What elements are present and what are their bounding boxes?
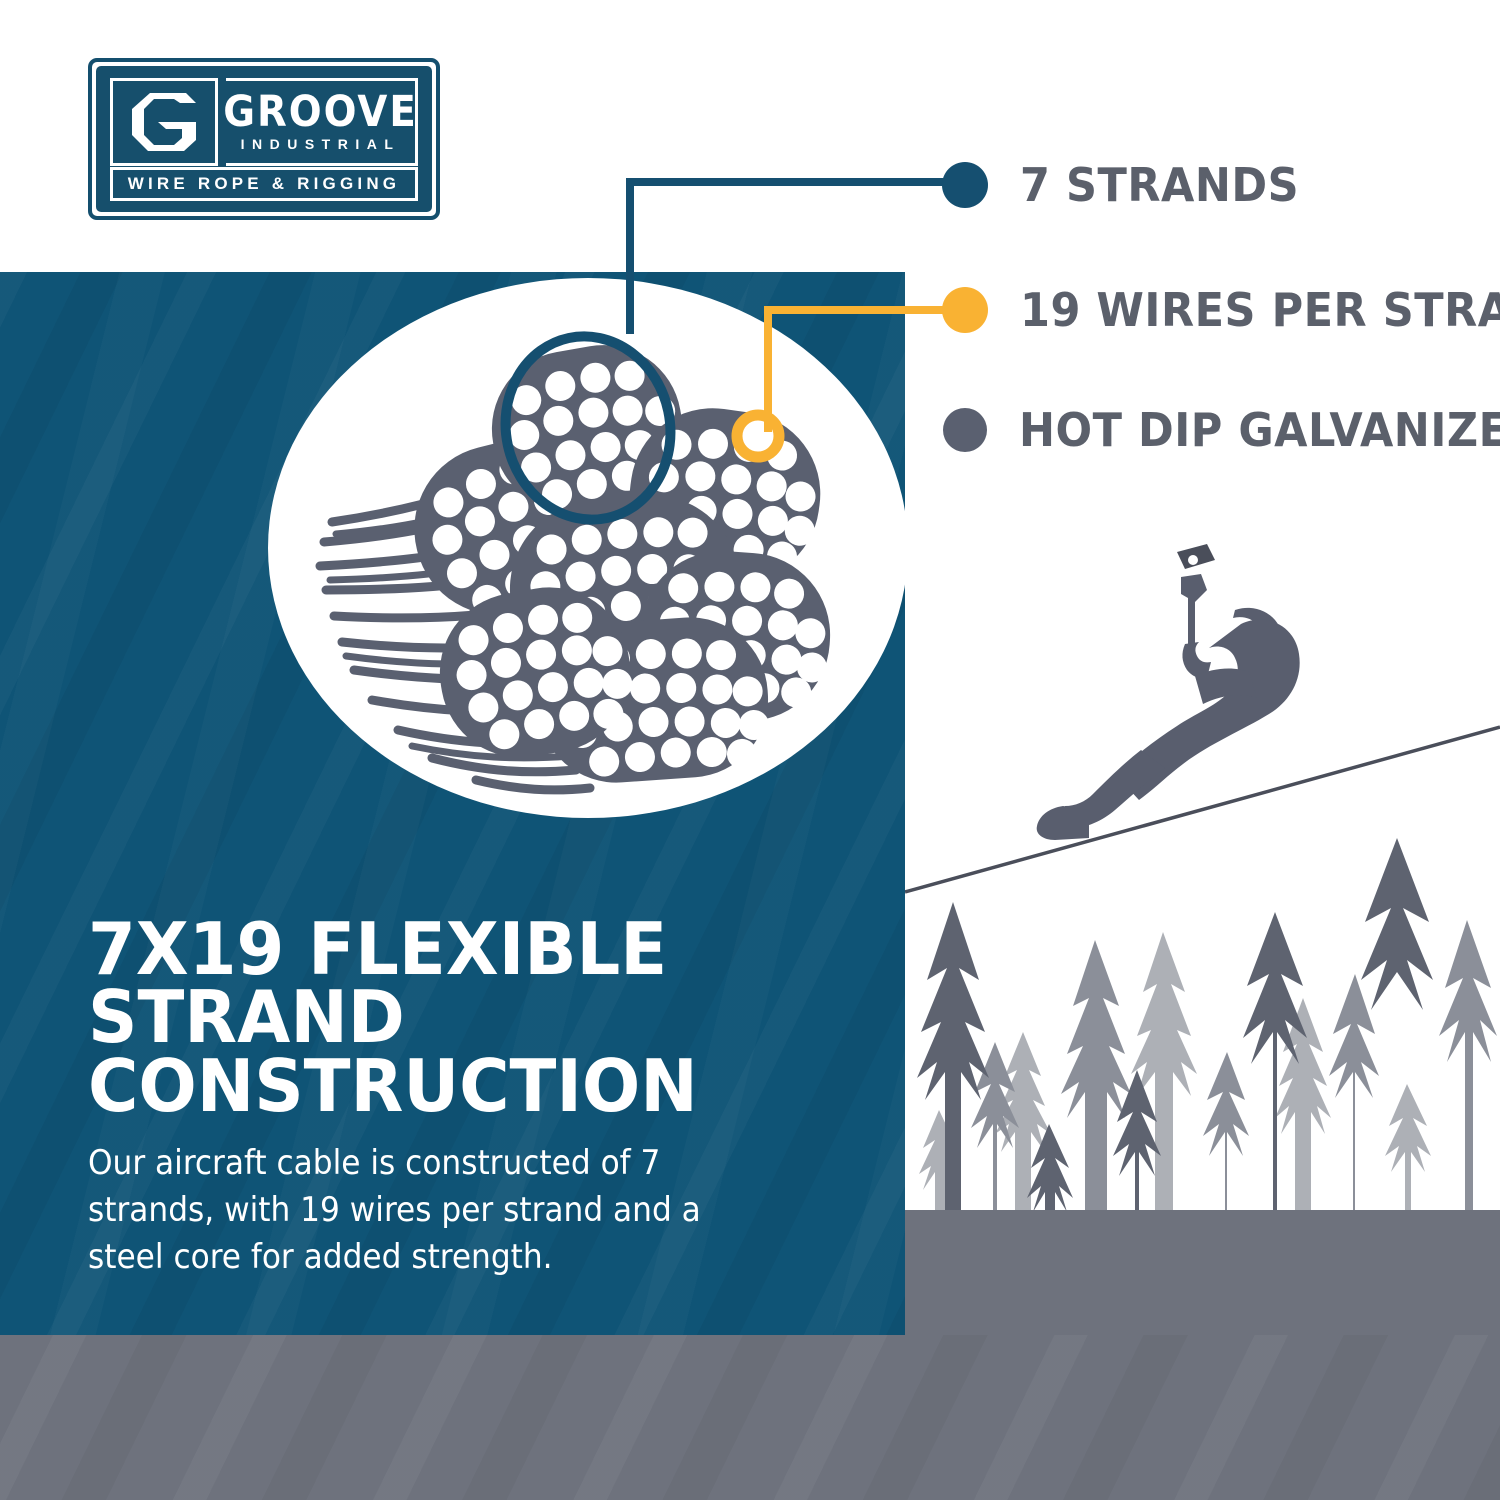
- logo-tagline-box: WIRE ROPE & RIGGING: [110, 167, 418, 201]
- callout-7-strands: 7 STRANDS: [942, 158, 1288, 212]
- logo-monogram-box: [110, 78, 218, 166]
- callout-dot-amber: [942, 287, 988, 333]
- callout-label-text: 19 WIRES PER STRAND: [1020, 283, 1500, 337]
- brand-logo[interactable]: GROOVE INDUSTRIAL WIRE ROPE & RIGGING: [88, 58, 440, 220]
- groove-g-icon: [128, 91, 200, 153]
- photo-bottom-band: [905, 1210, 1500, 1335]
- logo-inner-panel: GROOVE INDUSTRIAL WIRE ROPE & RIGGING: [96, 66, 432, 212]
- headline-line-2: STRAND CONSTRUCTION: [88, 983, 925, 1120]
- body-copy: Our aircraft cable is constructed of 7 s…: [88, 1140, 748, 1281]
- bottom-gray-band: [0, 1335, 1500, 1500]
- logo-subtitle: INDUSTRIAL: [241, 136, 401, 152]
- callout-dot-navy: [942, 162, 988, 208]
- bottom-band-texture: [0, 1335, 1500, 1500]
- logo-wordmark: GROOVE: [223, 92, 418, 133]
- logo-name-box: GROOVE INDUSTRIAL: [226, 78, 418, 166]
- body-line-3: steel core for added strength.: [88, 1234, 761, 1281]
- headline-line-1: 7X19 FLEXIBLE: [88, 915, 925, 983]
- leader-line-wires: [768, 310, 962, 428]
- callout-hot-dip-galvanized: HOT DIP GALVANIZED: [942, 403, 1500, 457]
- callout-dot-gray: [943, 408, 987, 452]
- callout-label-text: 7 STRANDS: [1020, 158, 1299, 212]
- callout-label: 7 STRANDS: [1020, 158, 1288, 212]
- logo-tagline: WIRE ROPE & RIGGING: [128, 174, 400, 194]
- callout-label-text: HOT DIP GALVANIZED: [1019, 403, 1500, 457]
- headline: 7X19 FLEXIBLE STRAND CONSTRUCTION: [88, 915, 878, 1120]
- body-line-1: Our aircraft cable is constructed of 7: [88, 1140, 761, 1187]
- callout-label: HOT DIP GALVANIZED: [1019, 403, 1500, 457]
- infographic-canvas: GROOVE INDUSTRIAL WIRE ROPE & RIGGING 7 …: [0, 0, 1500, 1500]
- body-line-2: strands, with 19 wires per strand and a: [88, 1187, 761, 1234]
- callout-label: 19 WIRES PER STRAND: [1020, 283, 1500, 337]
- callout-19-wires-per-strand: 19 WIRES PER STRAND: [942, 283, 1500, 337]
